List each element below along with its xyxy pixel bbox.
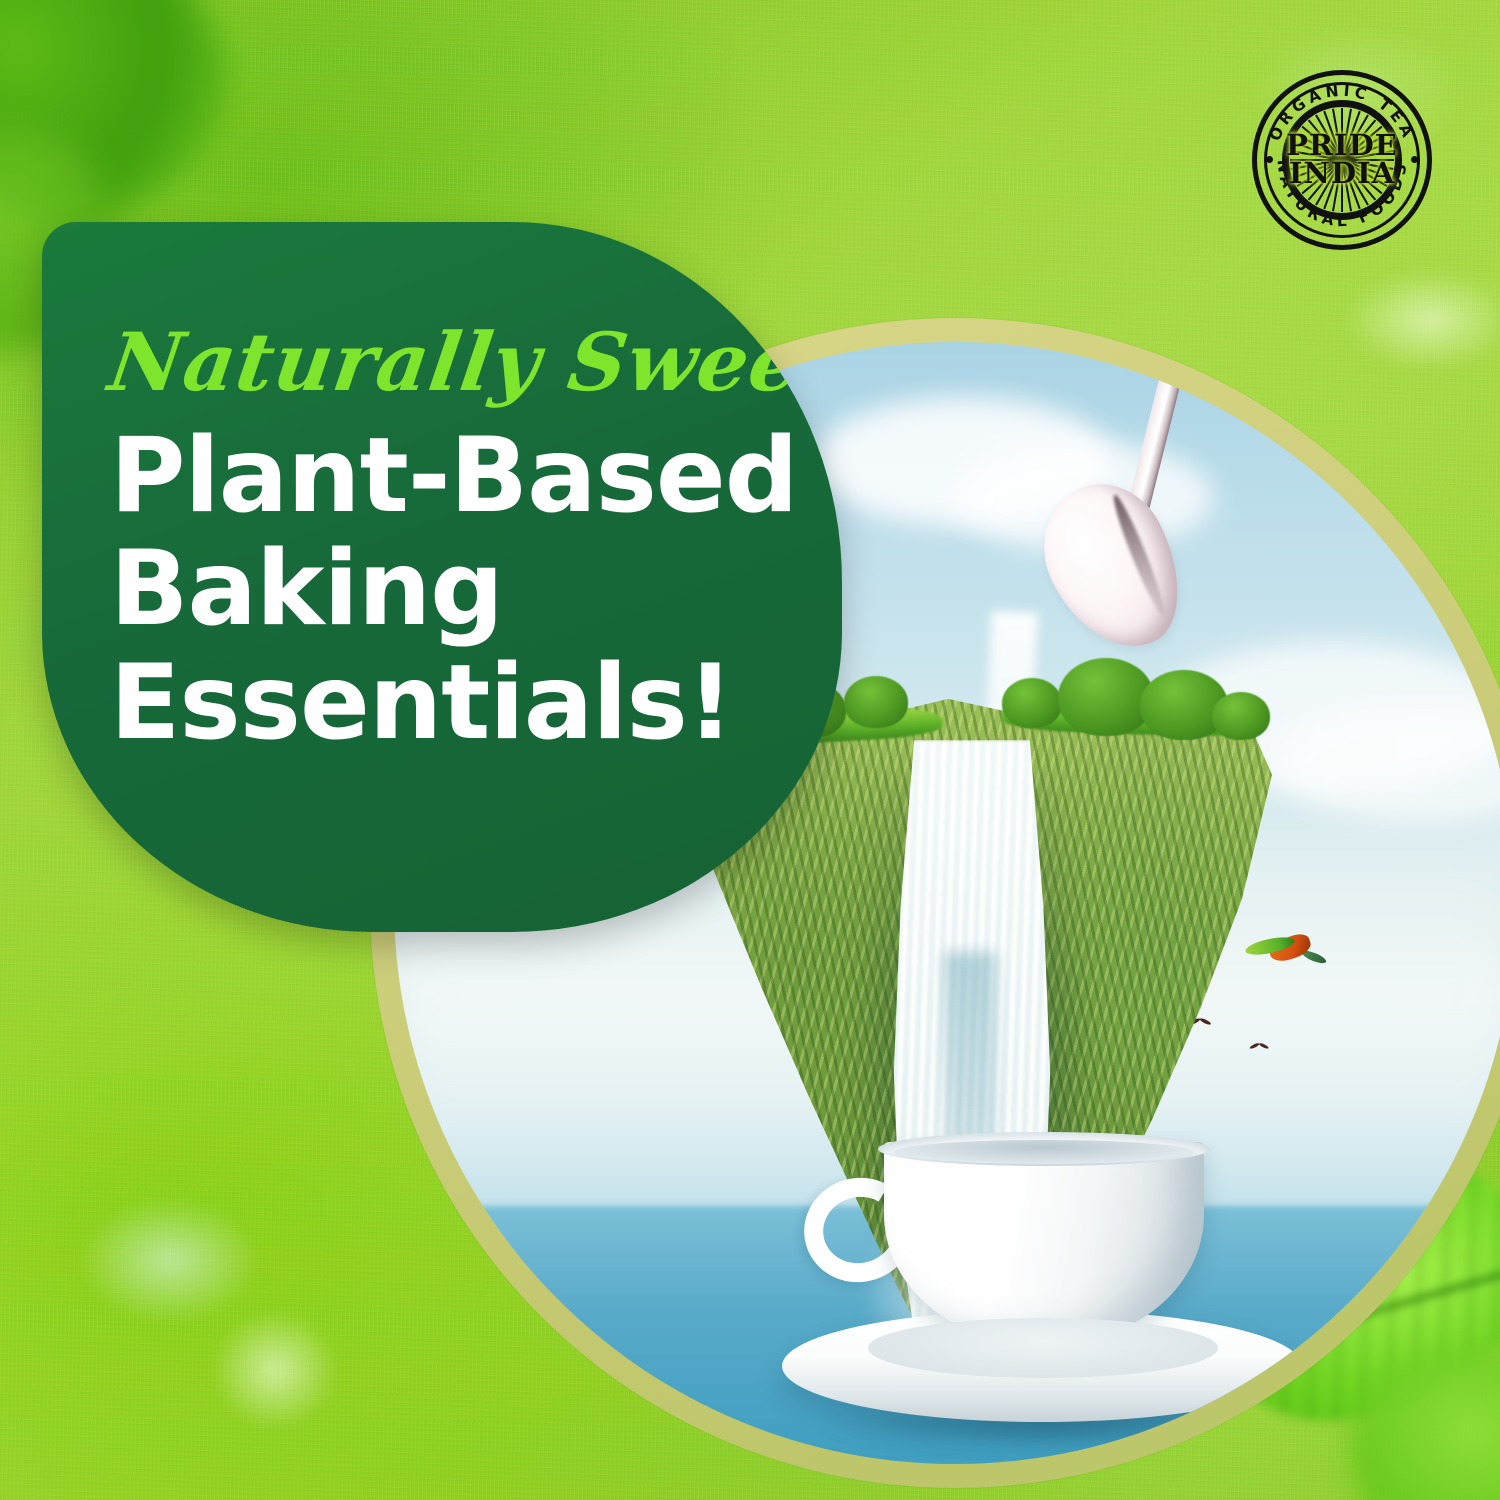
tree-icon [1058, 658, 1154, 736]
tree-icon [1212, 692, 1270, 740]
teacup-set [782, 1142, 1302, 1442]
script-tagline: Naturally Sweet, [104, 322, 817, 402]
tree-icon [1002, 678, 1062, 728]
tree-icon [844, 676, 908, 728]
headline-panel-content: Naturally Sweet, Plant-Based Baking Esse… [110, 322, 812, 760]
headline-line-3: Essentials! [110, 647, 812, 760]
logo-wordmark: PRIDE INDIA [1252, 132, 1432, 188]
saucer-well [868, 1318, 1218, 1378]
page-title: Plant-Based Baking Essentials! [110, 420, 812, 760]
headline-line-2: Baking [110, 533, 812, 646]
brand-logo[interactable]: ORGANIC TEA NATURAL FOODS PRIDE INDIA [1252, 70, 1432, 250]
headline-panel: Naturally Sweet, Plant-Based Baking Esse… [42, 222, 842, 932]
teacup [884, 1142, 1204, 1342]
spoon-icon [1024, 342, 1204, 662]
logo-word-india: INDIA [1252, 160, 1432, 188]
cup-interior [894, 1140, 1194, 1164]
headline-line-1: Plant-Based [110, 420, 812, 533]
